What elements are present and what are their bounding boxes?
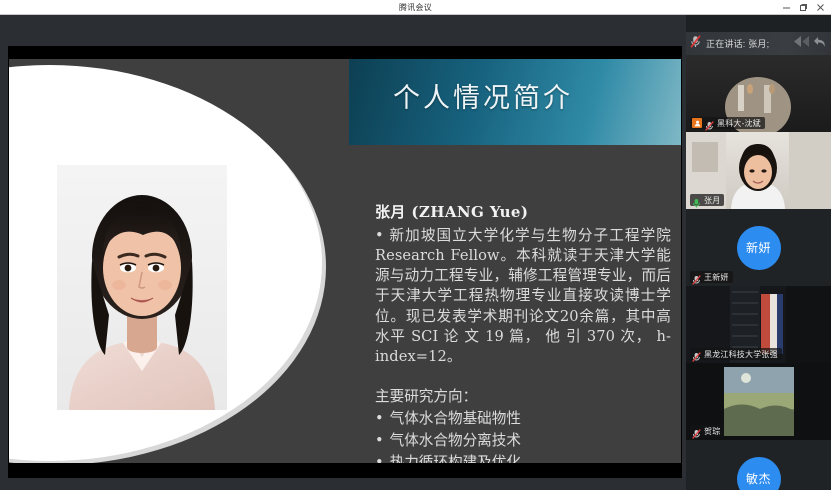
rail-controls <box>793 35 831 53</box>
slide-title: 个人情况简介 <box>393 76 573 115</box>
presentation-frame[interactable]: 个人情况简介 张月 (ZHANG Yue) • 新加坡国立大学化学与生物分子工程… <box>8 46 682 478</box>
back-arrow-icon[interactable] <box>813 35 826 53</box>
window-title: 腾讯会议 <box>399 2 432 13</box>
mic-muted-red-icon <box>690 35 701 53</box>
slide-bio-paragraph: • 新加坡国立大学化学与生物分子工程学院Research Fellow。本科就读… <box>375 226 671 367</box>
mic-active-icon <box>692 195 701 205</box>
title-bar: 腾讯会议 <box>0 0 831 15</box>
slide-bullet: 气体水合物基础物性 <box>375 408 671 430</box>
slide-bullet: 气体水合物分离技术 <box>375 430 671 452</box>
slide-header-band: 个人情况简介 <box>349 59 681 145</box>
participant-rail: 正在讲话: 张月; <box>686 15 831 490</box>
participant-name: 黑龙江科技大学张强 <box>704 349 778 360</box>
participant-name: 贺琮 <box>704 426 720 437</box>
portrait-photo <box>57 165 227 410</box>
participant-name-chip: 王新妍 <box>690 271 733 283</box>
active-speaker-bar: 正在讲话: 张月; <box>686 32 831 55</box>
collapse-arrows-icon[interactable] <box>793 35 810 53</box>
close-icon[interactable] <box>812 0 829 15</box>
participant-tile[interactable]: 黑龙江科技大学张强 <box>686 286 831 363</box>
participant-name-chip: 黑科大-沈斌 <box>690 117 765 129</box>
shared-screen-stage[interactable]: 个人情况简介 张月 (ZHANG Yue) • 新加坡国立大学化学与生物分子工程… <box>0 15 686 490</box>
window-controls <box>778 0 829 15</box>
slide-bullet: 热力循环构建及优化 <box>375 452 671 463</box>
participant-name: 张月 <box>704 195 720 206</box>
minimize-icon[interactable] <box>778 0 795 15</box>
slide-bullet-list: 气体水合物基础物性 气体水合物分离技术 热力循环构建及优化 <box>375 408 671 463</box>
avatar: 敏杰 <box>737 457 781 490</box>
participant-tile[interactable]: 黑科大-沈斌 <box>686 55 831 132</box>
participant-name-chip: 贺琮 <box>690 425 724 437</box>
participant-tile[interactable]: 张月 <box>686 132 831 209</box>
avatar: 新妍 <box>737 226 781 270</box>
mic-muted-icon <box>692 272 701 282</box>
participant-tile[interactable]: 敏杰 陈敏杰 <box>686 440 831 490</box>
participant-tile[interactable]: 贺琮 <box>686 363 831 440</box>
participant-name-chip: 张月 <box>690 194 724 206</box>
active-speaker-label: 正在讲话: 张月; <box>706 37 769 50</box>
participant-tile[interactable]: 新妍 王新妍 <box>686 209 831 286</box>
slide-name-line: 张月 (ZHANG Yue) <box>375 201 671 222</box>
participant-name: 王新妍 <box>704 272 729 283</box>
slide-body: 张月 (ZHANG Yue) • 新加坡国立大学化学与生物分子工程学院Resea… <box>375 201 671 463</box>
participant-name-chip: 黑龙江科技大学张强 <box>690 348 782 360</box>
mic-muted-icon <box>705 118 714 128</box>
mic-muted-icon <box>692 426 701 436</box>
mic-muted-icon <box>692 349 701 359</box>
restore-icon[interactable] <box>795 0 812 15</box>
host-badge-icon <box>692 118 702 128</box>
participant-name: 黑科大-沈斌 <box>717 118 761 129</box>
tencent-meeting-window: 腾讯会议 <box>0 0 831 490</box>
slide-canvas: 个人情况简介 张月 (ZHANG Yue) • 新加坡国立大学化学与生物分子工程… <box>9 59 681 463</box>
slide-section-title: 主要研究方向： <box>375 385 671 406</box>
